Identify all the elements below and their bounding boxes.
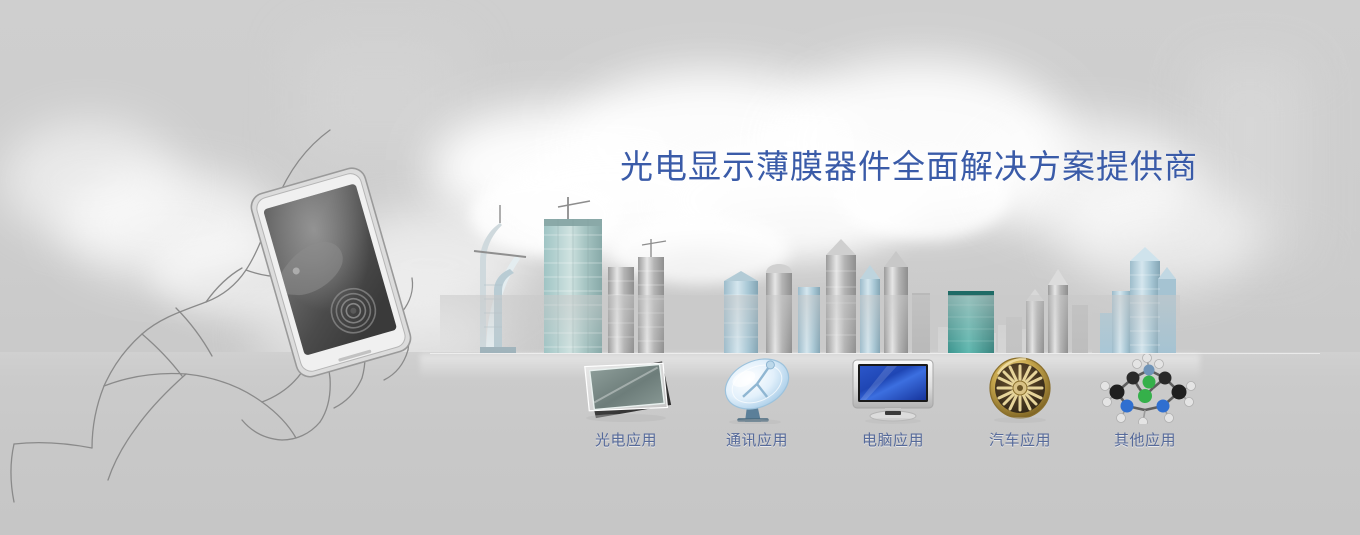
alloy-wheel-icon: [960, 352, 1080, 424]
molecule-model-icon: [1085, 352, 1205, 424]
application-item-communication[interactable]: 通讯应用: [697, 352, 817, 450]
city-skyline: [440, 195, 1180, 355]
application-label: 电脑应用: [833, 429, 953, 450]
application-label: 光电应用: [566, 429, 686, 450]
hand-holding-phone-illustration: [0, 110, 480, 510]
satellite-dish-icon: [697, 352, 817, 424]
application-label: 汽车应用: [960, 429, 1080, 450]
computer-monitor-icon: [833, 352, 953, 424]
application-label: 通讯应用: [697, 429, 817, 450]
application-item-other[interactable]: 其他应用: [1085, 352, 1205, 450]
application-item-optoelectronic[interactable]: 光电应用: [566, 352, 686, 450]
application-list: 光电应用: [560, 352, 1200, 462]
glass-film-panels-icon: [566, 352, 686, 424]
application-item-automotive[interactable]: 汽车应用: [960, 352, 1080, 450]
hero-banner: 光电应用: [0, 0, 1360, 535]
application-item-computer[interactable]: 电脑应用: [833, 352, 953, 450]
application-label: 其他应用: [1085, 429, 1205, 450]
page-headline: 光电显示薄膜器件全面解决方案提供商: [620, 140, 1198, 188]
